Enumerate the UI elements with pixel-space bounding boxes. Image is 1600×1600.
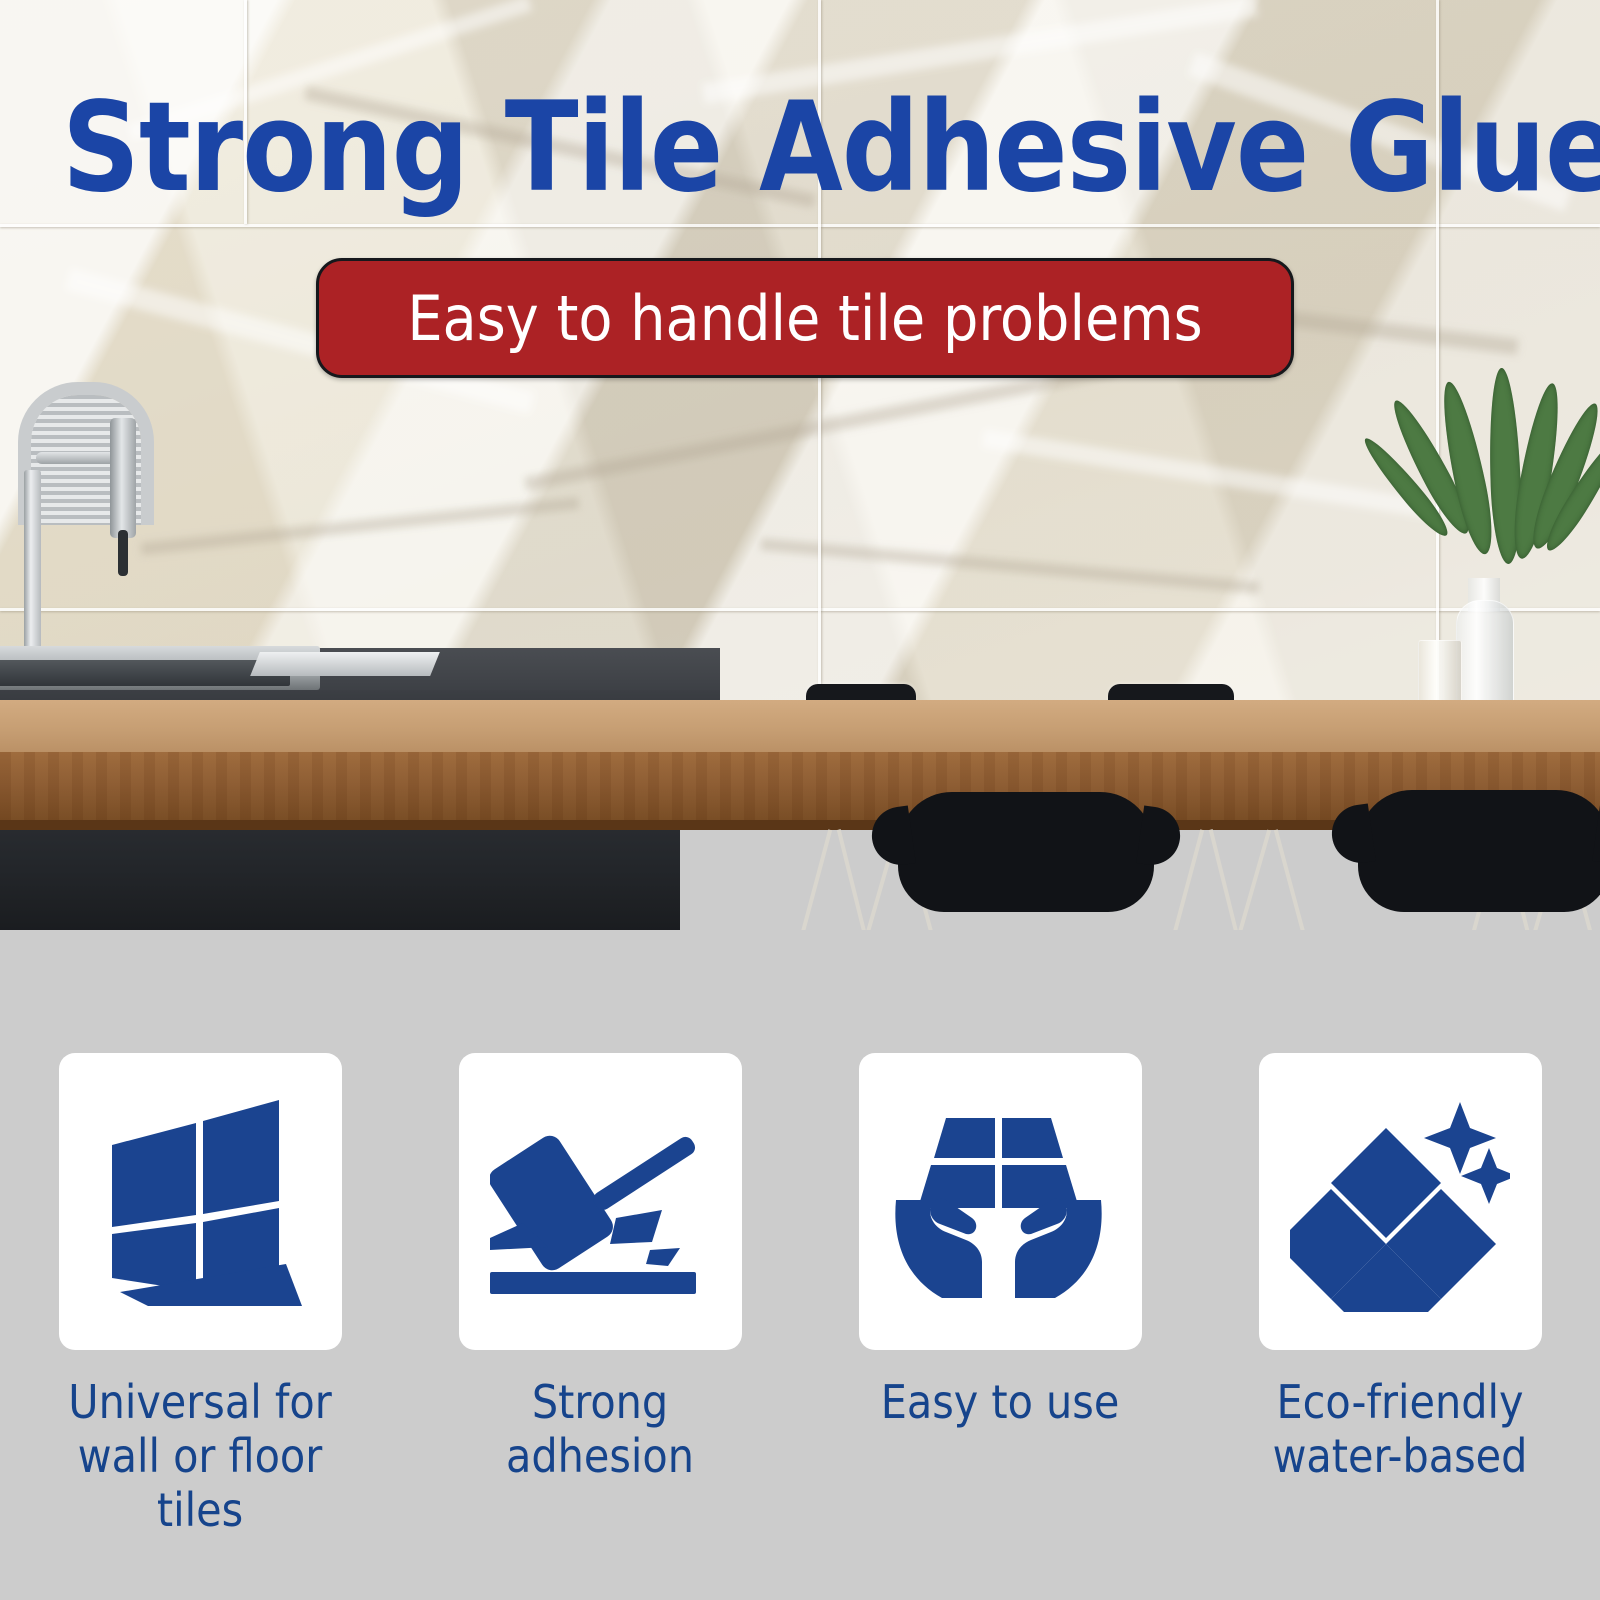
wood-table-top — [0, 700, 1600, 756]
feature-caption: Eco-friendly water-based — [1235, 1376, 1565, 1484]
dining-chair — [898, 792, 1154, 912]
feature-icon-card — [59, 1053, 342, 1350]
feature-caption-line1: Easy to use — [881, 1375, 1120, 1429]
feature-strip: Universal for wall or floor tiles — [0, 930, 1600, 1600]
feature-item: Strong adhesion — [400, 1053, 800, 1537]
faucet-head — [110, 418, 136, 538]
faucet-spout — [118, 530, 128, 576]
hammer-impact-icon — [490, 1092, 710, 1312]
chair-wire-legs — [1182, 828, 1302, 930]
page-title: Strong Tile Adhesive Glue — [62, 86, 1498, 210]
feature-caption-line2: wall or floor tiles — [78, 1429, 323, 1537]
feature-caption-line1: Strong adhesion — [506, 1375, 694, 1483]
feature-caption-line2: water-based — [1273, 1429, 1528, 1483]
feature-item: Easy to use — [800, 1053, 1200, 1537]
feature-item: Eco-friendly water-based — [1200, 1053, 1600, 1537]
feature-caption: Easy to use — [835, 1376, 1165, 1430]
grout-line-horizontal — [0, 608, 1600, 611]
sink-basin — [0, 660, 290, 686]
feature-caption: Strong adhesion — [435, 1376, 765, 1484]
feature-caption-line1: Universal for — [68, 1375, 331, 1429]
feature-caption-line1: Eco-friendly — [1276, 1375, 1523, 1429]
sink-drainboard — [250, 652, 440, 676]
feature-icon-card — [859, 1053, 1142, 1350]
hero-photo: Strong Tile Adhesive Glue Easy to handle… — [0, 0, 1600, 930]
feature-caption: Universal for wall or floor tiles — [35, 1376, 365, 1537]
feature-icon-card — [459, 1053, 742, 1350]
feature-item: Universal for wall or floor tiles — [0, 1053, 400, 1537]
subheadline-banner: Easy to handle tile problems — [316, 258, 1294, 378]
hands-holding-tiles-icon — [890, 1092, 1110, 1312]
feature-icon-card — [1259, 1053, 1542, 1350]
sparkling-diamond-tiles-icon — [1290, 1092, 1510, 1312]
dining-chair — [1358, 790, 1600, 912]
wall-and-floor-tile-icon — [90, 1092, 310, 1312]
grout-line-horizontal — [0, 224, 1600, 227]
subheadline-text: Easy to handle tile problems — [407, 282, 1202, 355]
product-poster: Strong Tile Adhesive Glue Easy to handle… — [0, 0, 1600, 1600]
faucet-column — [24, 470, 41, 670]
